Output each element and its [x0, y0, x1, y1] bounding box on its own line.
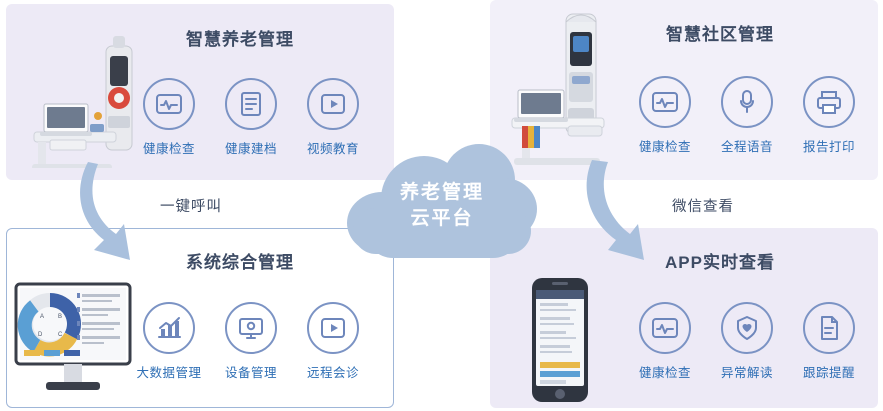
cloud-label-line1: 养老管理	[347, 180, 537, 206]
icon-item-health-check-br[interactable]: 健康检查	[636, 302, 694, 381]
video-play-icon	[307, 78, 359, 130]
icon-label: 设备管理	[225, 362, 277, 381]
heartbeat-monitor-icon	[639, 302, 691, 354]
icon-label: 全程语音	[721, 136, 773, 155]
arrow-right-down	[578, 158, 668, 273]
cloud-label-line2: 云平台	[347, 206, 537, 232]
svg-text:D: D	[38, 332, 43, 338]
icon-label: 健康检查	[143, 138, 195, 157]
monitor-gear-icon	[225, 302, 277, 354]
device-health-kiosk-workstation	[20, 28, 160, 173]
icon-label: 报告打印	[803, 136, 855, 155]
arrow-label-right: 微信查看	[672, 195, 734, 216]
document-book-icon	[225, 78, 277, 130]
icon-item-health-check-tl[interactable]: 健康检查	[140, 78, 198, 157]
icon-label: 远程会诊	[307, 362, 359, 381]
icon-item-remote-consultation-bl[interactable]: 远程会诊	[304, 302, 362, 381]
heartbeat-monitor-icon	[639, 76, 691, 128]
shield-heart-icon	[721, 302, 773, 354]
icon-label: 健康检查	[639, 362, 691, 381]
icon-label: 跟踪提醒	[803, 362, 855, 381]
printer-icon	[803, 76, 855, 128]
icon-label: 异常解读	[721, 362, 773, 381]
icon-item-big-data-bl[interactable]: 大数据管理	[140, 302, 198, 381]
bar-chart-arrow-icon	[143, 302, 195, 354]
icon-item-abnormal-interpretation-br[interactable]: 异常解读	[718, 302, 776, 381]
arrow-label-left: 一键呼叫	[160, 195, 222, 216]
svg-text:B: B	[58, 314, 62, 320]
cloud-platform: 养老管理 云平台	[347, 144, 537, 268]
microphone-icon	[721, 76, 773, 128]
icon-item-health-record-tl[interactable]: 健康建档	[222, 78, 280, 157]
device-desktop-monitor-dashboard: A B D C	[14, 282, 134, 403]
icon-group-bottom-right: 健康检查 异常解读 跟踪提醒	[636, 302, 858, 381]
icon-item-report-print-tr[interactable]: 报告打印	[800, 76, 858, 155]
cloud-label: 养老管理 云平台	[347, 180, 537, 232]
heartbeat-monitor-icon	[143, 78, 195, 130]
arrow-left-down	[78, 160, 168, 273]
icon-item-voice-guide-tr[interactable]: 全程语音	[718, 76, 776, 155]
icon-item-device-management-bl[interactable]: 设备管理	[222, 302, 280, 381]
icon-group-top-right: 健康检查 全程语音 报告打印	[636, 76, 858, 155]
video-play-icon	[307, 302, 359, 354]
icon-label: 大数据管理	[137, 362, 202, 381]
icon-label: 健康检查	[639, 136, 691, 155]
device-smartphone-app	[524, 276, 602, 409]
svg-text:C: C	[58, 332, 63, 338]
report-file-icon	[803, 302, 855, 354]
svg-text:A: A	[40, 314, 44, 320]
icon-item-tracking-reminder-br[interactable]: 跟踪提醒	[800, 302, 858, 381]
icon-label: 健康建档	[225, 138, 277, 157]
icon-group-top-left: 健康检查 健康建档 视频教育	[140, 78, 362, 157]
icon-item-health-check-tr[interactable]: 健康检查	[636, 76, 694, 155]
icon-group-bottom-left: 大数据管理 设备管理 远程会诊	[140, 302, 362, 381]
